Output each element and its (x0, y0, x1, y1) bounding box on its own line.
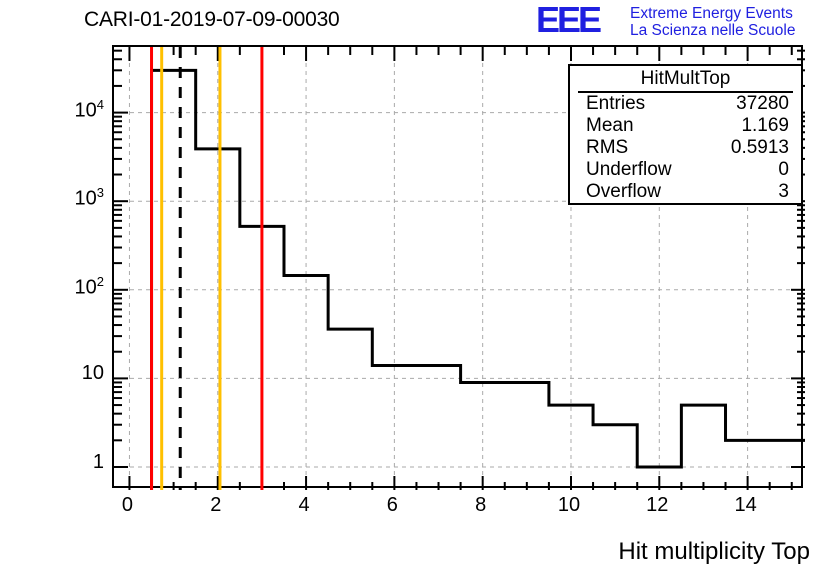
stats-box: HitMultTop Entries37280Mean1.169RMS0.591… (568, 64, 803, 205)
eee-logo-line1: Extreme Energy Events (630, 5, 795, 22)
page-title: CARI-01-2019-07-09-00030 (84, 8, 340, 32)
stats-row: RMS0.5913 (570, 137, 801, 159)
y-tick-label: 103 (34, 185, 104, 211)
eee-logo-mark: EEE (536, 0, 599, 40)
eee-logo-text: Extreme Energy Events La Scienza nelle S… (630, 5, 795, 39)
y-tick-label: 102 (34, 274, 104, 300)
eee-logo-line2: La Scienza nelle Scuole (630, 22, 795, 39)
stats-row-key: Mean (586, 115, 634, 137)
y-tick-label: 1 (34, 451, 104, 474)
stats-row-value: 3 (778, 181, 789, 203)
stats-row: Entries37280 (570, 93, 801, 115)
stats-row-value: 0.5913 (731, 137, 789, 159)
x-tick-label: 8 (461, 494, 501, 517)
stats-row: Overflow3 (570, 181, 801, 203)
x-tick-label: 6 (372, 494, 412, 517)
eee-logo: EEE Extreme Energy Events La Scienza nel… (536, 2, 836, 42)
x-tick-label: 4 (284, 494, 324, 517)
stats-title: HitMultTop (578, 66, 793, 93)
x-tick-label: 2 (196, 494, 236, 517)
plot-canvas: CARI-01-2019-07-09-00030 EEE Extreme Ene… (0, 0, 836, 572)
stats-row: Mean1.169 (570, 115, 801, 137)
x-tick-label: 14 (726, 494, 766, 517)
x-tick-label: 12 (637, 494, 677, 517)
stats-row-key: Overflow (586, 181, 661, 203)
x-tick-label: 10 (549, 494, 589, 517)
stats-row-value: 37280 (736, 93, 789, 115)
stats-row-key: Entries (586, 93, 645, 115)
x-tick-label: 0 (107, 494, 147, 517)
stats-row-key: Underflow (586, 159, 672, 181)
y-tick-label: 10 (34, 362, 104, 385)
stats-row-key: RMS (586, 137, 628, 159)
y-tick-label: 104 (34, 97, 104, 123)
stats-row-value: 0 (778, 159, 789, 181)
x-axis-title: Hit multiplicity Top (618, 538, 810, 566)
stats-row: Underflow0 (570, 159, 801, 181)
stats-row-value: 1.169 (741, 115, 789, 137)
